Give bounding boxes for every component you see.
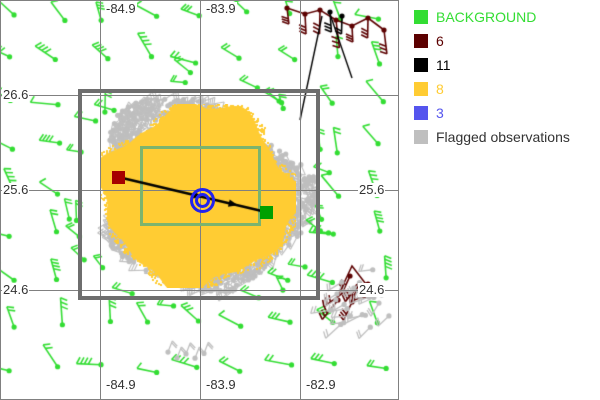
- legend-swatch-icon: [414, 10, 428, 24]
- legend-item[interactable]: 3: [414, 102, 598, 123]
- storm-center-ring-inner[interactable]: [195, 193, 210, 208]
- legend-swatch-icon: [414, 106, 428, 120]
- legend-swatch-icon: [414, 34, 428, 48]
- legend-item-label: 6: [436, 34, 444, 48]
- x-tick-bottom: -84.9: [105, 378, 137, 392]
- legend-item-label: 11: [436, 58, 451, 72]
- legend-item[interactable]: 6: [414, 30, 598, 51]
- x-tick-top: -83.9: [205, 2, 237, 16]
- map-plot-panel[interactable]: -84.9-83.9-84.9-83.9-82.926.625.624.625.…: [0, 0, 399, 400]
- y-tick-left: 25.6: [2, 183, 29, 197]
- legend-item-label: 3: [436, 106, 444, 120]
- legend-item[interactable]: 8: [414, 78, 598, 99]
- legend-swatch-icon: [414, 82, 428, 96]
- legend-item[interactable]: BACKGROUND: [414, 6, 598, 27]
- legend-item-label: Flagged observations: [436, 130, 570, 144]
- x-tick-bottom: -83.9: [205, 378, 237, 392]
- x-tick-bottom: -82.9: [305, 378, 337, 392]
- legend-item-label: BACKGROUND: [436, 10, 536, 24]
- y-tick-left: 26.6: [2, 88, 29, 102]
- legend-swatch-icon: [414, 130, 428, 144]
- track-start-marker[interactable]: [112, 171, 125, 184]
- legend-item[interactable]: Flagged observations: [414, 126, 598, 147]
- y-tick-right: 25.6: [358, 183, 385, 197]
- screenshot-root: -84.9-83.9-84.9-83.9-82.926.625.624.625.…: [0, 0, 600, 400]
- track-end-marker[interactable]: [260, 206, 273, 219]
- legend: BACKGROUND61183Flagged observations: [414, 6, 598, 150]
- y-tick-right: 24.6: [358, 283, 385, 297]
- legend-swatch-icon: [414, 58, 428, 72]
- legend-item[interactable]: 11: [414, 54, 598, 75]
- x-tick-top: -84.9: [105, 2, 137, 16]
- legend-item-label: 8: [436, 82, 444, 96]
- y-tick-left: 24.6: [2, 283, 29, 297]
